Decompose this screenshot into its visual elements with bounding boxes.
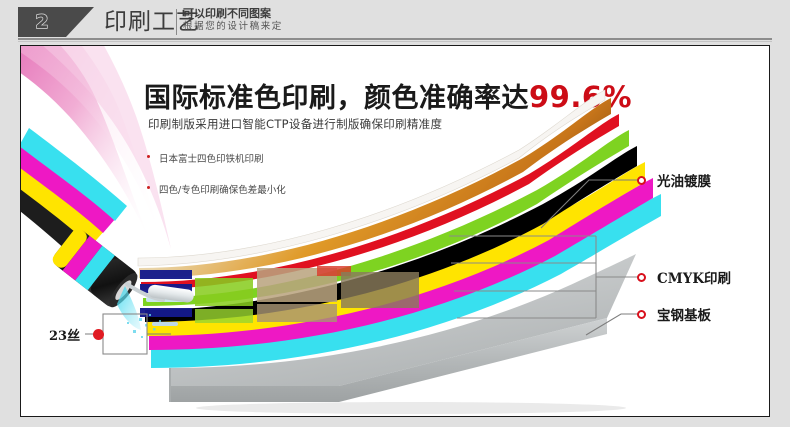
callout-marker-baseplate — [637, 310, 646, 319]
callout-marker-cmyk — [637, 273, 646, 282]
page-root: 2 印刷工艺 可以印刷不同图案 根据您的设计稿来定 — [0, 0, 790, 427]
callout-marker-varnish — [637, 176, 646, 185]
header-rule-primary — [18, 38, 772, 40]
paint-roller-illustration — [21, 128, 195, 338]
header-rule-secondary — [18, 41, 772, 42]
callout-label-varnish: 光油镀膜 — [657, 170, 711, 190]
section-header: 2 印刷工艺 可以印刷不同图案 根据您的设计稿来定 — [0, 0, 790, 42]
callout-marker-thickness — [93, 329, 104, 340]
badge-wedge-decoration — [66, 7, 94, 37]
header-subtitle-line1: 可以印刷不同图案 — [183, 7, 271, 20]
content-panel: 国际标准色印刷，颜色准确率达99.6% 印刷制版采用进口智能CTP设备进行制版确… — [20, 45, 770, 417]
section-number-label: 2 — [18, 7, 66, 37]
header-divider — [176, 9, 177, 35]
callout-label-baseplate: 宝钢基板 — [657, 304, 711, 324]
callout-label-cmyk: CMYK印刷 — [657, 267, 731, 287]
callout-label-thickness: 23丝 — [49, 325, 80, 344]
section-number-badge: 2 — [18, 7, 66, 37]
printing-layers-illustration — [21, 46, 770, 417]
header-subtitle-line2: 根据您的设计稿来定 — [183, 21, 283, 33]
